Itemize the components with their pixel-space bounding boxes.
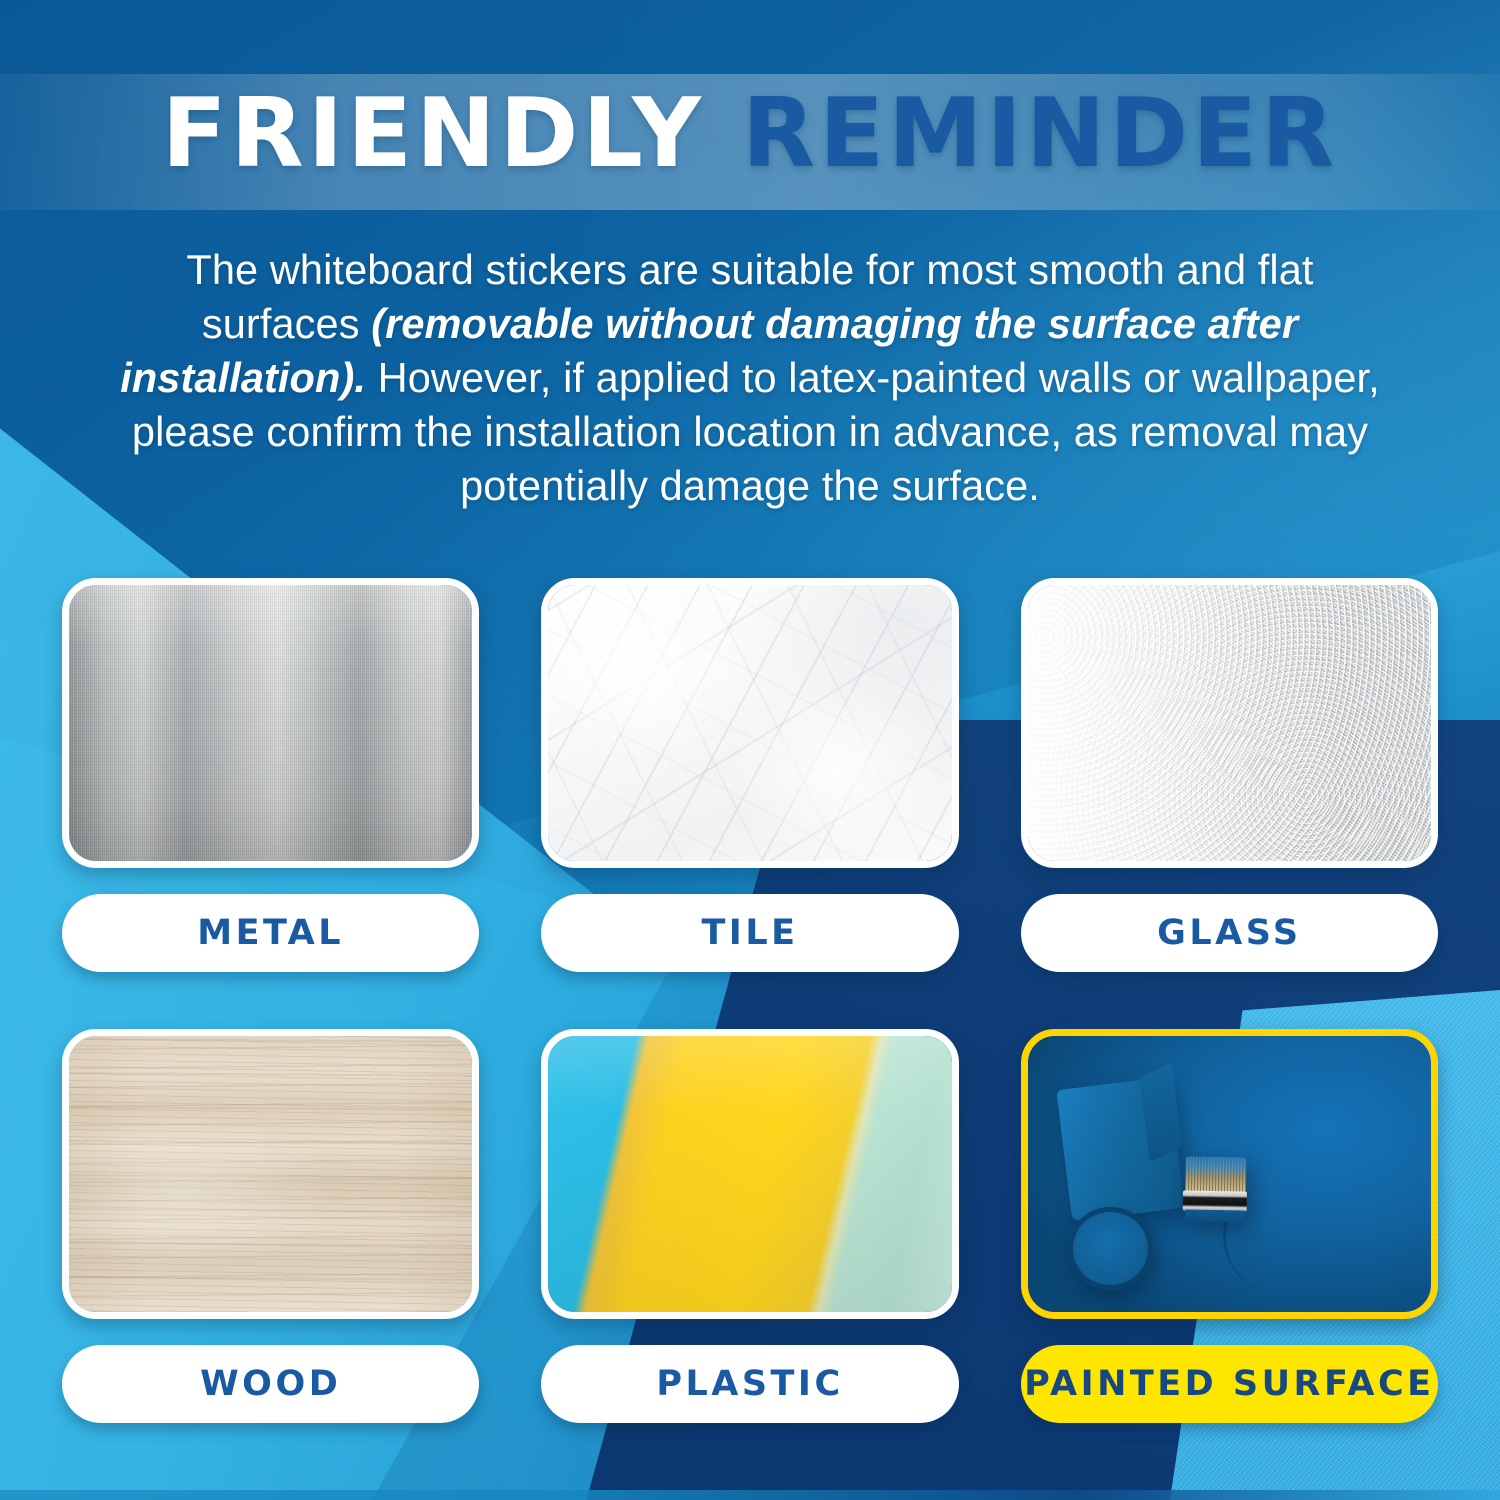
surface-label-pill-glass[interactable]: GLASS	[1021, 894, 1438, 972]
surface-label-pill-metal[interactable]: METAL	[62, 894, 479, 972]
surface-image-plastic	[541, 1029, 958, 1319]
surface-image-metal	[62, 578, 479, 868]
surface-card-glass[interactable]: GLASS	[1021, 578, 1438, 972]
surface-label-pill-painted-surface[interactable]: PAINTED SURFACE	[1021, 1345, 1438, 1423]
surface-label-pill-wood[interactable]: WOOD	[62, 1345, 479, 1423]
surface-label-plastic: PLASTIC	[656, 1364, 843, 1404]
title-part-friendly: FRIENDLY	[162, 79, 705, 189]
surface-label-metal: METAL	[197, 913, 344, 953]
surface-card-plastic[interactable]: PLASTIC	[541, 1029, 958, 1423]
surface-grid: METAL TILE GLASS	[62, 578, 1438, 1423]
surface-label-tile: TILE	[701, 913, 798, 953]
surface-card-metal[interactable]: METAL	[62, 578, 479, 972]
page-title: FRIENDLY REMINDER	[0, 78, 1500, 190]
surface-image-painted-surface	[1021, 1029, 1438, 1319]
brush-bristles	[1185, 1157, 1246, 1194]
texture-blue-painted-wall	[1028, 1036, 1431, 1312]
surface-card-painted-surface[interactable]: PAINTED SURFACE	[1021, 1029, 1438, 1423]
surface-label-wood: WOOD	[200, 1364, 341, 1404]
texture-frosted-glass	[1028, 585, 1431, 861]
texture-white-marble	[548, 585, 951, 861]
paint-lid-icon	[1068, 1207, 1153, 1290]
paint-drip-icon	[1218, 1215, 1293, 1293]
surface-card-tile[interactable]: TILE	[541, 578, 958, 972]
paint-brush-icon	[1184, 1157, 1246, 1224]
surface-card-wood[interactable]: WOOD	[62, 1029, 479, 1423]
poster-content: FRIENDLY REMINDER The whiteboard sticker…	[0, 0, 1500, 1500]
surface-label-glass: GLASS	[1157, 913, 1301, 953]
surface-label-pill-tile[interactable]: TILE	[541, 894, 958, 972]
poster: FRIENDLY REMINDER The whiteboard sticker…	[0, 0, 1500, 1500]
texture-colored-plastic	[548, 1036, 951, 1312]
surface-image-tile	[541, 578, 958, 868]
title-part-reminder: REMINDER	[742, 79, 1338, 189]
surface-image-glass	[1021, 578, 1438, 868]
texture-brushed-steel	[69, 585, 472, 861]
surface-label-painted-surface: PAINTED SURFACE	[1024, 1364, 1435, 1404]
brush-handle	[1186, 1210, 1245, 1223]
texture-light-oak-wood	[69, 1036, 472, 1312]
body-paragraph: The whiteboard stickers are suitable for…	[118, 243, 1382, 513]
surface-image-wood	[62, 1029, 479, 1319]
surface-label-pill-plastic[interactable]: PLASTIC	[541, 1345, 958, 1423]
paint-can-icon	[1056, 1077, 1184, 1222]
